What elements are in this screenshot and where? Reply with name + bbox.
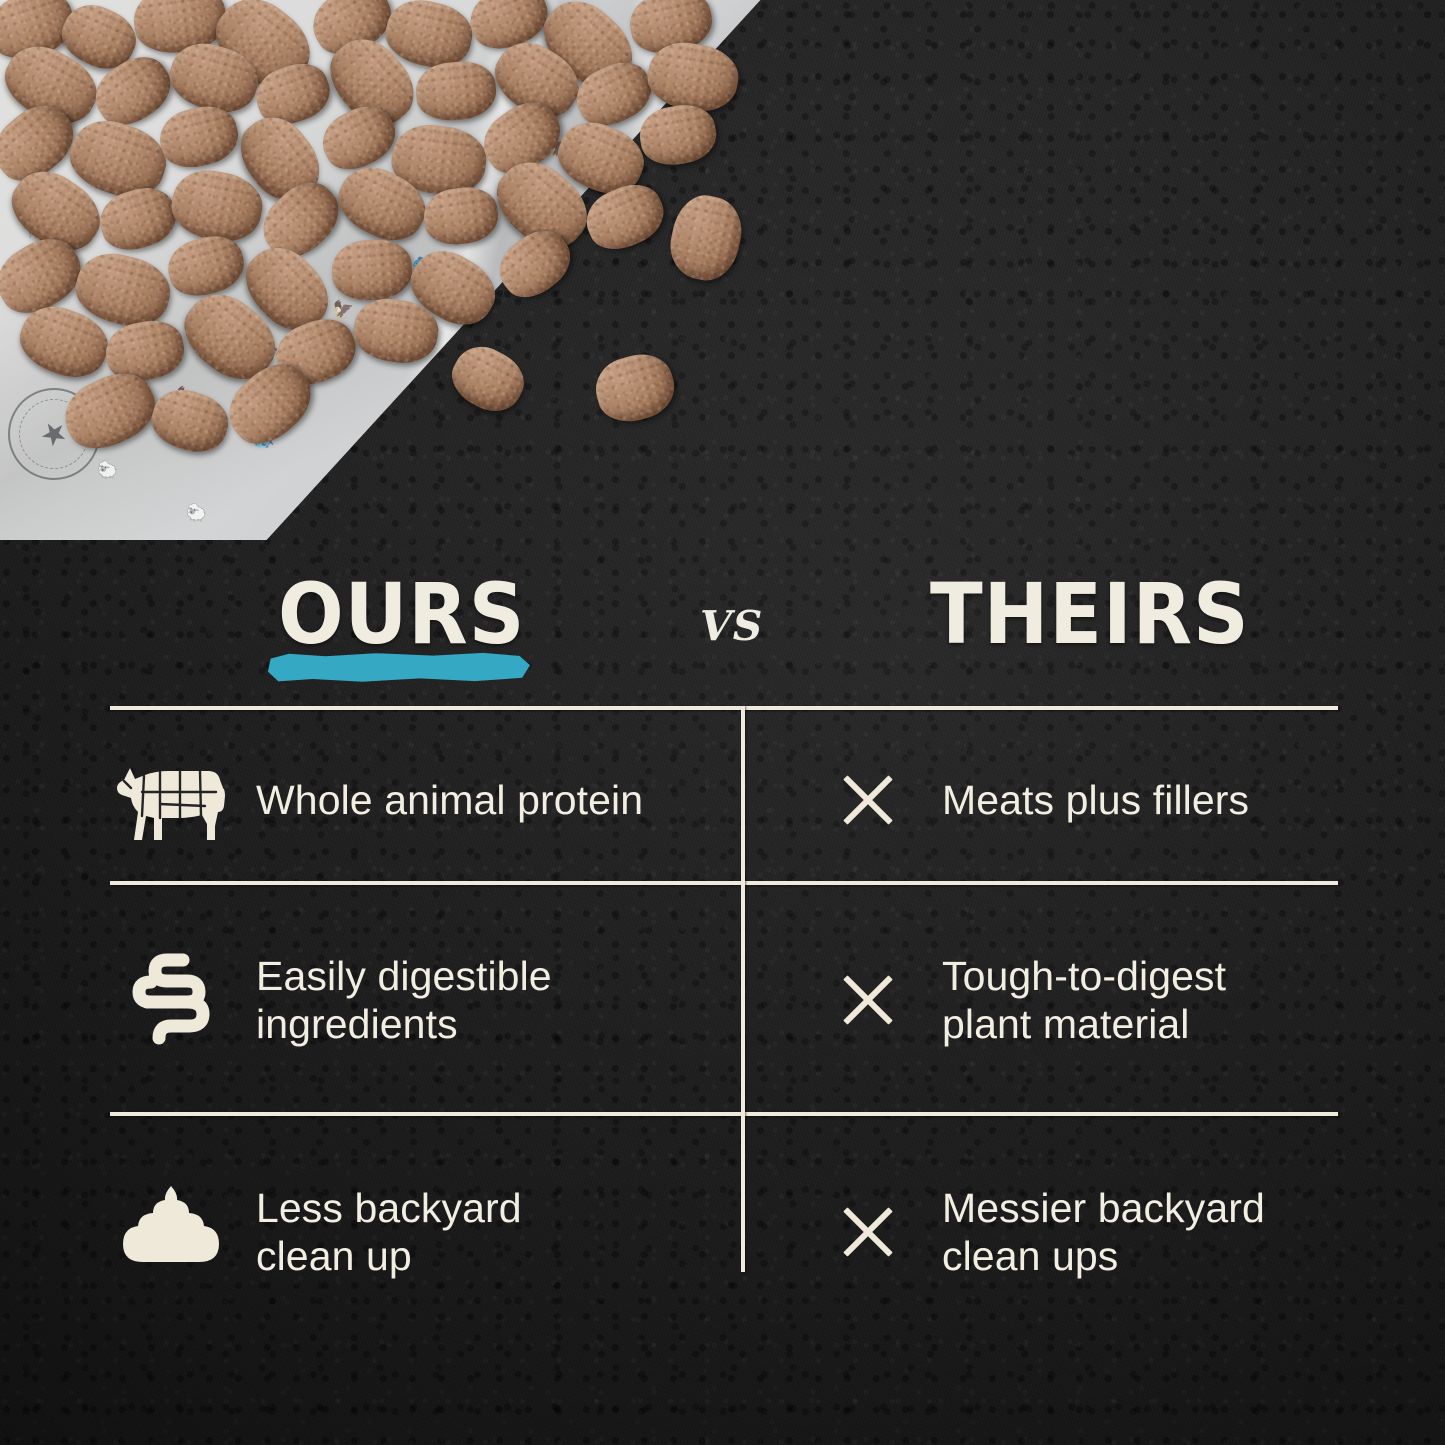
cow-butcher-chart-icon: [112, 754, 230, 846]
table-cell-theirs-3-label: Messier backyard clean ups: [942, 1184, 1265, 1281]
intestine-icon: [112, 952, 230, 1048]
table-cell-ours-1: Whole animal protein: [112, 744, 732, 856]
table-rule-row1: [110, 881, 1338, 885]
teal-brushstroke-underline: [268, 652, 530, 682]
x-mark-icon: [820, 772, 916, 828]
table-cell-theirs-2: Tough-to-digest plant material: [820, 930, 1350, 1070]
header-ours: OURS: [278, 575, 598, 655]
header-ours-label: OURS: [278, 575, 525, 655]
table-rule-vertical: [741, 706, 745, 1272]
header-theirs: THEIRS: [930, 575, 1250, 655]
x-mark-icon: [820, 1204, 916, 1260]
table-cell-ours-3-label: Less backyard clean up: [256, 1184, 522, 1281]
x-mark-icon: [820, 972, 916, 1028]
table-cell-theirs-3: Messier backyard clean ups: [820, 1162, 1350, 1302]
table-cell-ours-2: Easily digestible ingredients: [112, 930, 732, 1070]
table-cell-ours-3: Less backyard clean up: [112, 1162, 732, 1302]
table-rule-top: [110, 706, 1338, 710]
stool-icon: [112, 1182, 230, 1282]
table-cell-theirs-1-label: Meats plus fillers: [942, 776, 1249, 824]
table-cell-ours-1-label: Whole animal protein: [256, 776, 643, 824]
table-cell-theirs-2-label: Tough-to-digest plant material: [942, 952, 1226, 1049]
table-cell-ours-2-label: Easily digestible ingredients: [256, 952, 552, 1049]
table-cell-theirs-1: Meats plus fillers: [820, 744, 1350, 856]
table-rule-row2: [110, 1112, 1338, 1116]
header-vs: VS: [700, 602, 763, 650]
ours-vs-theirs-table: OURS VS THEIRS: [0, 0, 1445, 1445]
product-comparison-image: 🐄 🐕 🦅 🐟 🐑 🐄 🦅 🐟 🐄 🐕 🐑 🦅 ★: [0, 0, 1445, 1445]
